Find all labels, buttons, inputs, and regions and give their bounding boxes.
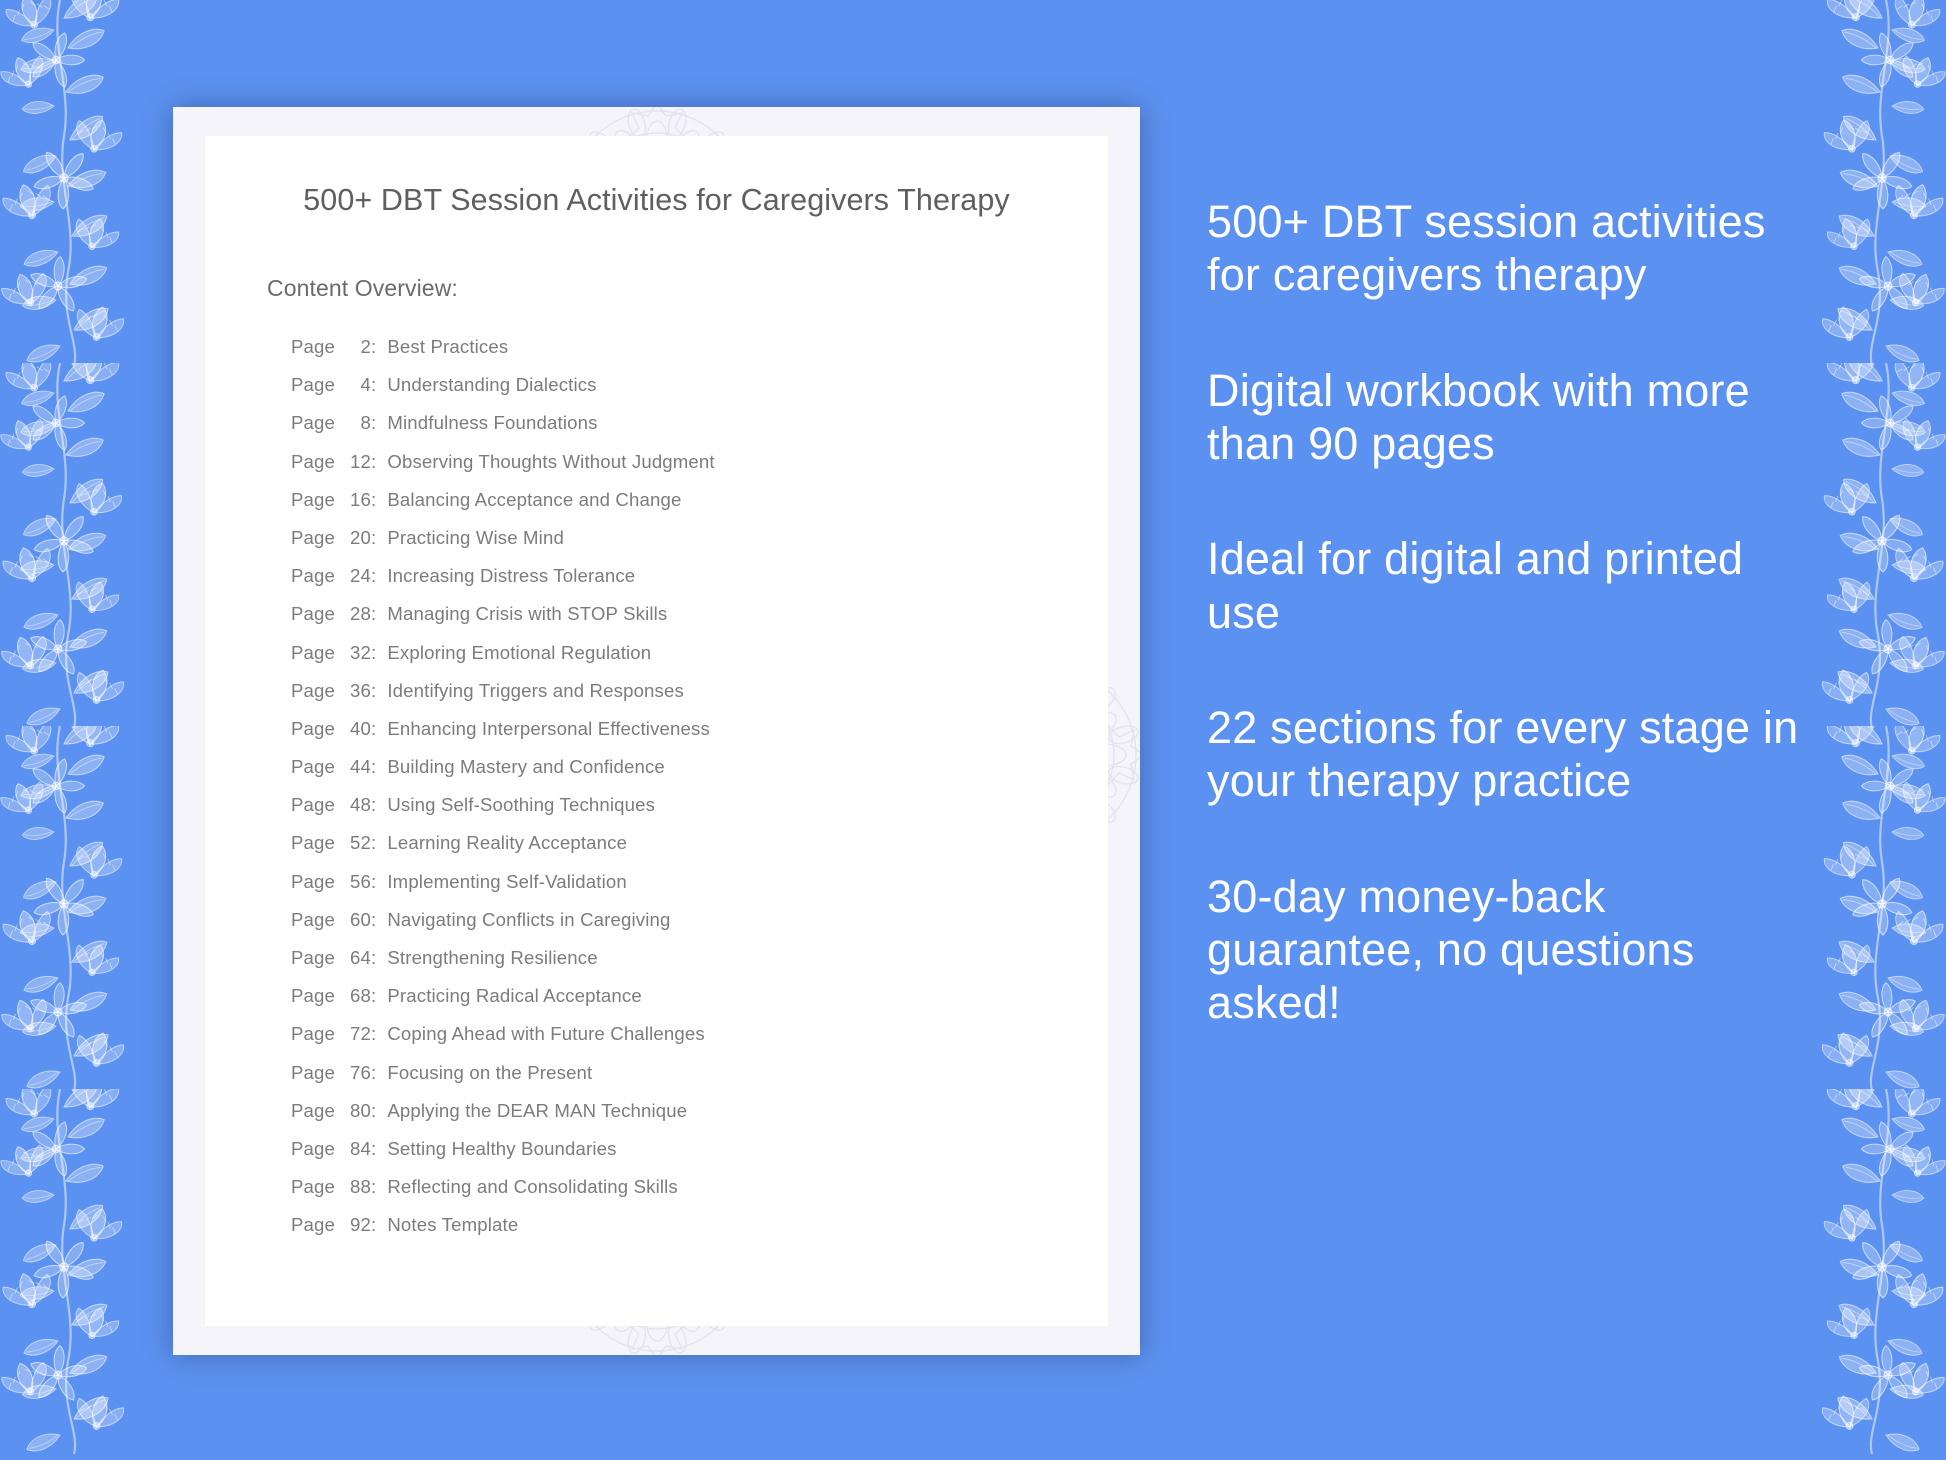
toc-page-word: Page: [291, 949, 335, 968]
toc-page-word: Page: [291, 1025, 335, 1044]
toc-colon: :: [371, 1216, 376, 1235]
toc-colon: :: [371, 605, 376, 624]
toc-entry[interactable]: Page72:Coping Ahead with Future Challeng…: [291, 1016, 1108, 1054]
toc-entry-title: Reflecting and Consolidating Skills: [387, 1178, 678, 1197]
toc-colon: :: [371, 720, 376, 739]
toc-colon: :: [371, 758, 376, 777]
toc-entry-title: Observing Thoughts Without Judgment: [387, 453, 714, 472]
toc-entry-title: Implementing Self-Validation: [387, 873, 627, 892]
toc-page-word: Page: [291, 682, 335, 701]
toc-colon: :: [371, 911, 376, 930]
floral-vine-border-icon: [0, 0, 171, 365]
toc-page-number: 20: [341, 529, 371, 548]
toc-page-number: 24: [341, 567, 371, 586]
floral-vine-border-icon: [0, 1089, 171, 1454]
toc-colon: :: [371, 1102, 376, 1121]
toc-page-word: Page: [291, 1140, 335, 1159]
floral-vine-border-icon: [0, 726, 171, 1091]
toc-entry[interactable]: Page12:Observing Thoughts Without Judgme…: [291, 443, 1108, 481]
toc-page-word: Page: [291, 567, 335, 586]
toc-entry-title: Enhancing Interpersonal Effectiveness: [387, 720, 710, 739]
toc-page-number: 80: [341, 1102, 371, 1121]
toc-colon: :: [371, 453, 376, 472]
toc-page-number: 16: [341, 491, 371, 510]
toc-page-number: 12: [341, 453, 371, 472]
toc-page-word: Page: [291, 834, 335, 853]
toc-page-word: Page: [291, 796, 335, 815]
toc-entry-title: Applying the DEAR MAN Technique: [387, 1102, 687, 1121]
feature-item: Ideal for digital and printed use: [1207, 532, 1827, 639]
toc-page-word: Page: [291, 911, 335, 930]
toc-colon: :: [371, 644, 376, 663]
table-of-contents: Page2:Best PracticesPage4:Understanding …: [205, 302, 1108, 1245]
feature-item: 22 sections for every stage in your ther…: [1207, 701, 1827, 808]
toc-entry[interactable]: Page16:Balancing Acceptance and Change: [291, 481, 1108, 519]
toc-page-number: 72: [341, 1025, 371, 1044]
toc-page-number: 4: [341, 376, 371, 395]
toc-entry[interactable]: Page8:Mindfulness Foundations: [291, 405, 1108, 443]
toc-entry-title: Coping Ahead with Future Challenges: [387, 1025, 704, 1044]
document-page: 500+ DBT Session Activities for Caregive…: [205, 136, 1108, 1326]
toc-entry-title: Exploring Emotional Regulation: [387, 644, 651, 663]
toc-page-number: 32: [341, 644, 371, 663]
toc-colon: :: [371, 1140, 376, 1159]
page-title: 500+ DBT Session Activities for Caregive…: [205, 136, 1108, 220]
toc-page-word: Page: [291, 1064, 335, 1083]
toc-page-word: Page: [291, 1102, 335, 1121]
toc-entry-title: Mindfulness Foundations: [387, 414, 597, 433]
toc-page-number: 2: [341, 338, 371, 357]
toc-colon: :: [371, 682, 376, 701]
toc-entry-title: Increasing Distress Tolerance: [387, 567, 635, 586]
toc-page-word: Page: [291, 720, 335, 739]
toc-colon: :: [371, 1178, 376, 1197]
toc-colon: :: [371, 1025, 376, 1044]
toc-entry[interactable]: Page92:Notes Template: [291, 1207, 1108, 1245]
toc-entry-title: Navigating Conflicts in Caregiving: [387, 911, 670, 930]
toc-page-number: 92: [341, 1216, 371, 1235]
toc-entry-title: Notes Template: [387, 1216, 518, 1235]
toc-colon: :: [371, 491, 376, 510]
toc-entry[interactable]: Page20:Practicing Wise Mind: [291, 519, 1108, 557]
toc-entry[interactable]: Page36:Identifying Triggers and Response…: [291, 672, 1108, 710]
toc-entry[interactable]: Page60:Navigating Conflicts in Caregivin…: [291, 901, 1108, 939]
toc-page-word: Page: [291, 453, 335, 472]
toc-page-number: 76: [341, 1064, 371, 1083]
toc-page-number: 8: [341, 414, 371, 433]
toc-entry[interactable]: Page40:Enhancing Interpersonal Effective…: [291, 710, 1108, 748]
feature-item: 30-day money-back guarantee, no question…: [1207, 870, 1827, 1030]
floral-vine-border-icon: [1775, 1089, 1946, 1454]
toc-page-word: Page: [291, 758, 335, 777]
toc-colon: :: [371, 873, 376, 892]
toc-page-word: Page: [291, 1178, 335, 1197]
toc-page-number: 28: [341, 605, 371, 624]
toc-entry[interactable]: Page56:Implementing Self-Validation: [291, 863, 1108, 901]
toc-entry[interactable]: Page28:Managing Crisis with STOP Skills: [291, 596, 1108, 634]
toc-colon: :: [371, 567, 376, 586]
toc-entry[interactable]: Page4:Understanding Dialectics: [291, 366, 1108, 404]
toc-entry[interactable]: Page84:Setting Healthy Boundaries: [291, 1130, 1108, 1168]
toc-page-word: Page: [291, 987, 335, 1006]
toc-page-number: 84: [341, 1140, 371, 1159]
toc-page-word: Page: [291, 414, 335, 433]
toc-entry-title: Strengthening Resilience: [387, 949, 597, 968]
document-preview-card[interactable]: 500+ DBT Session Activities for Caregive…: [173, 107, 1140, 1355]
content-overview-heading: Content Overview:: [205, 220, 1108, 302]
toc-page-number: 48: [341, 796, 371, 815]
toc-entry-title: Managing Crisis with STOP Skills: [387, 605, 667, 624]
toc-page-number: 60: [341, 911, 371, 930]
toc-page-number: 44: [341, 758, 371, 777]
toc-entry[interactable]: Page24:Increasing Distress Tolerance: [291, 557, 1108, 595]
toc-page-word: Page: [291, 491, 335, 510]
toc-colon: :: [371, 376, 376, 395]
toc-page-word: Page: [291, 605, 335, 624]
feature-list: 500+ DBT session activities for caregive…: [1207, 195, 1827, 1029]
feature-item: Digital workbook with more than 90 pages: [1207, 364, 1827, 471]
toc-page-number: 68: [341, 987, 371, 1006]
toc-page-number: 36: [341, 682, 371, 701]
toc-colon: :: [371, 834, 376, 853]
toc-colon: :: [371, 987, 376, 1006]
toc-entry[interactable]: Page44:Building Mastery and Confidence: [291, 748, 1108, 786]
toc-page-number: 40: [341, 720, 371, 739]
toc-entry[interactable]: Page2:Best Practices: [291, 328, 1108, 366]
toc-colon: :: [371, 796, 376, 815]
feature-item: 500+ DBT session activities for caregive…: [1207, 195, 1827, 302]
toc-page-word: Page: [291, 338, 335, 357]
toc-entry-title: Balancing Acceptance and Change: [387, 491, 681, 510]
toc-colon: :: [371, 1064, 376, 1083]
toc-page-number: 64: [341, 949, 371, 968]
toc-entry[interactable]: Page52:Learning Reality Acceptance: [291, 825, 1108, 863]
toc-entry-title: Focusing on the Present: [387, 1064, 592, 1083]
toc-page-word: Page: [291, 376, 335, 395]
toc-entry-title: Using Self-Soothing Techniques: [387, 796, 655, 815]
toc-entry-title: Best Practices: [387, 338, 508, 357]
toc-page-word: Page: [291, 1216, 335, 1235]
floral-vine-border-icon: [0, 363, 171, 728]
toc-entry-title: Learning Reality Acceptance: [387, 834, 627, 853]
toc-page-number: 56: [341, 873, 371, 892]
toc-entry[interactable]: Page68:Practicing Radical Acceptance: [291, 977, 1108, 1015]
toc-page-number: 88: [341, 1178, 371, 1197]
toc-entry[interactable]: Page64:Strengthening Resilience: [291, 939, 1108, 977]
toc-entry[interactable]: Page32:Exploring Emotional Regulation: [291, 634, 1108, 672]
toc-entry[interactable]: Page80:Applying the DEAR MAN Technique: [291, 1092, 1108, 1130]
toc-page-word: Page: [291, 873, 335, 892]
toc-entry-title: Setting Healthy Boundaries: [387, 1140, 616, 1159]
toc-colon: :: [371, 529, 376, 548]
toc-entry[interactable]: Page76:Focusing on the Present: [291, 1054, 1108, 1092]
toc-entry-title: Practicing Radical Acceptance: [387, 987, 641, 1006]
toc-page-word: Page: [291, 644, 335, 663]
toc-colon: :: [371, 414, 376, 433]
toc-entry[interactable]: Page88:Reflecting and Consolidating Skil…: [291, 1168, 1108, 1206]
left-floral-border: [0, 0, 171, 1460]
toc-entry-title: Identifying Triggers and Responses: [387, 682, 684, 701]
toc-colon: :: [371, 949, 376, 968]
toc-entry[interactable]: Page48:Using Self-Soothing Techniques: [291, 787, 1108, 825]
toc-entry-title: Building Mastery and Confidence: [387, 758, 665, 777]
toc-page-word: Page: [291, 529, 335, 548]
toc-entry-title: Practicing Wise Mind: [387, 529, 564, 548]
toc-page-number: 52: [341, 834, 371, 853]
toc-colon: :: [371, 338, 376, 357]
toc-entry-title: Understanding Dialectics: [387, 376, 596, 395]
